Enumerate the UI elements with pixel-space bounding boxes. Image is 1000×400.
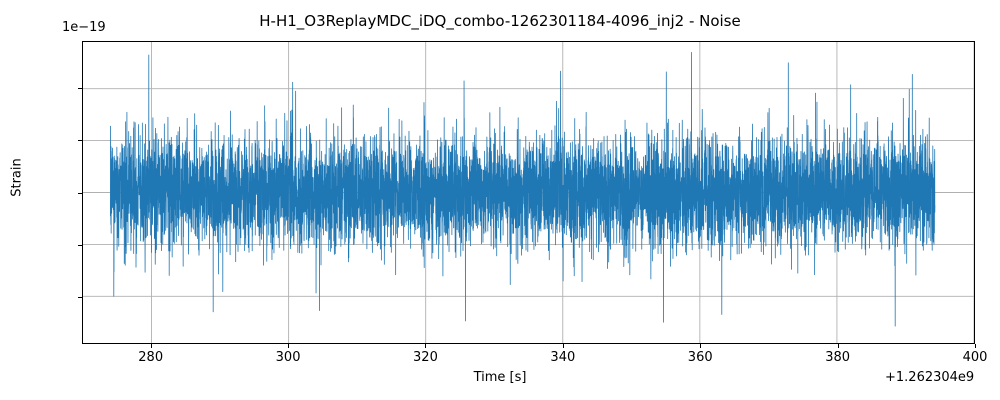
plot-area bbox=[82, 41, 975, 344]
y-tick-mark bbox=[78, 245, 82, 246]
x-tick-label: 320 bbox=[413, 350, 438, 365]
x-tick-label: 380 bbox=[825, 350, 850, 365]
noise-series-path bbox=[83, 42, 974, 343]
x-tick-mark bbox=[425, 344, 426, 348]
x-tick-mark bbox=[838, 344, 839, 348]
y-tick-mark bbox=[78, 193, 82, 194]
x-tick-label: 280 bbox=[138, 350, 163, 365]
y-tick-mark bbox=[78, 140, 82, 141]
noise-trace bbox=[110, 52, 935, 326]
y-tick-mark bbox=[78, 88, 82, 89]
x-tick-label: 360 bbox=[688, 350, 713, 365]
x-axis-offset-label: +1.262304e9 bbox=[885, 370, 974, 385]
x-axis-label: Time [s] bbox=[0, 370, 1000, 385]
x-tick-mark bbox=[975, 344, 976, 348]
page-title: H-H1_O3ReplayMDC_iDQ_combo-1262301184-40… bbox=[0, 12, 1000, 30]
y-tick-mark bbox=[78, 297, 82, 298]
y-axis-offset-label: 1e−19 bbox=[62, 20, 106, 35]
x-tick-mark bbox=[700, 344, 701, 348]
y-axis-label: Strain bbox=[10, 128, 25, 228]
x-tick-label: 400 bbox=[963, 350, 988, 365]
x-tick-label: 300 bbox=[276, 350, 301, 365]
x-tick-mark bbox=[151, 344, 152, 348]
figure-canvas: H-H1_O3ReplayMDC_iDQ_combo-1262301184-40… bbox=[0, 0, 1000, 400]
x-tick-label: 340 bbox=[550, 350, 575, 365]
x-tick-mark bbox=[563, 344, 564, 348]
x-tick-mark bbox=[288, 344, 289, 348]
